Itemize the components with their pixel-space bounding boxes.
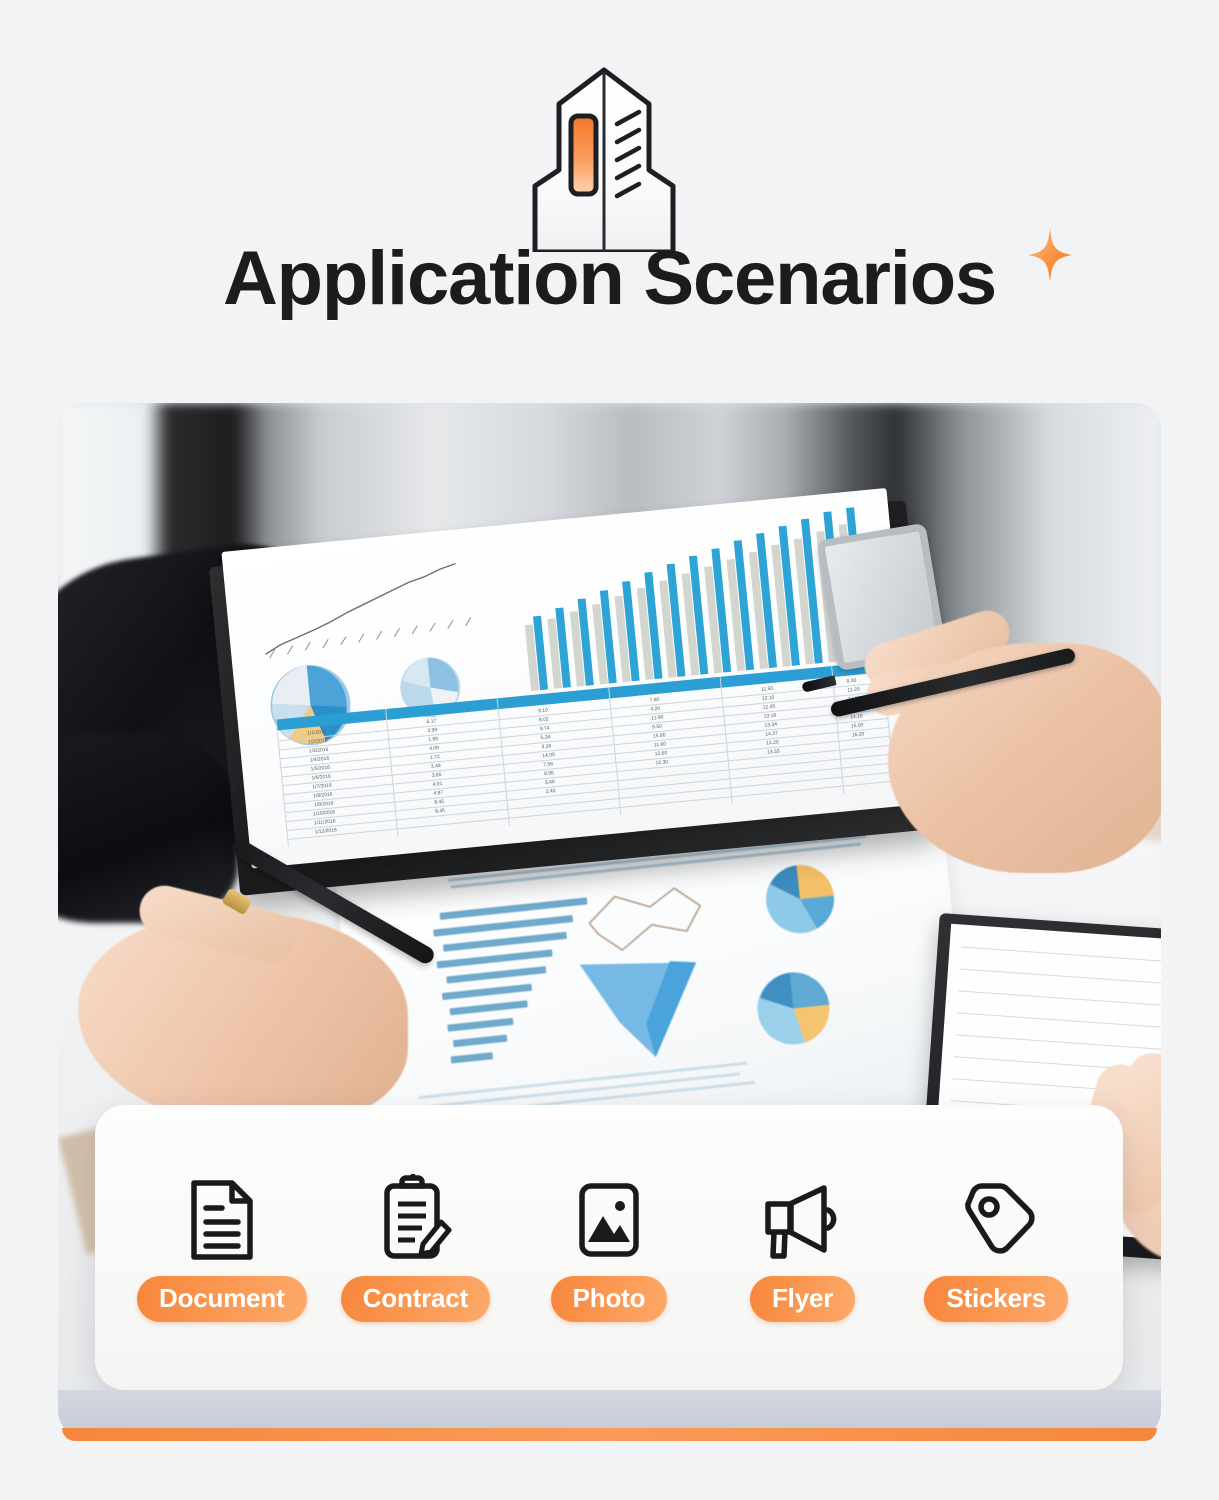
report-line-chart	[251, 547, 509, 663]
category-badge-document[interactable]: Document	[137, 1276, 307, 1322]
image-icon	[572, 1174, 646, 1262]
category-item-photo[interactable]: Photo	[519, 1174, 699, 1322]
clipboard-with-report: 1/1/2016 1/2/2016 1/3/2016 1/4/2016 1/5/…	[209, 500, 937, 896]
category-badge-photo[interactable]: Photo	[551, 1276, 668, 1322]
price-tag-icon	[955, 1174, 1037, 1262]
category-item-flyer[interactable]: Flyer	[713, 1174, 893, 1322]
document-icon	[186, 1174, 258, 1262]
hand-holding-pen-right	[848, 583, 1161, 873]
report-bar-chart	[517, 507, 875, 691]
clipboard-pencil-icon	[377, 1174, 453, 1262]
category-badge-contract[interactable]: Contract	[341, 1276, 490, 1322]
category-item-contract[interactable]: Contract	[325, 1174, 505, 1322]
category-badge-stickers[interactable]: Stickers	[924, 1276, 1068, 1322]
building-skyscraper-icon	[497, 62, 712, 252]
page-title: Application Scenarios	[223, 236, 996, 322]
card-bottom-accent-bar	[62, 1428, 1157, 1441]
page-header: Application Scenarios	[0, 0, 1219, 392]
hand-holding-pen-left	[78, 873, 458, 1133]
category-badge-flyer[interactable]: Flyer	[750, 1276, 855, 1322]
megaphone-icon	[760, 1174, 846, 1262]
category-panel: Document Contract	[95, 1105, 1123, 1390]
category-item-stickers[interactable]: Stickers	[906, 1174, 1086, 1322]
category-item-document[interactable]: Document	[132, 1174, 312, 1322]
sparkle-icon	[1028, 228, 1072, 282]
